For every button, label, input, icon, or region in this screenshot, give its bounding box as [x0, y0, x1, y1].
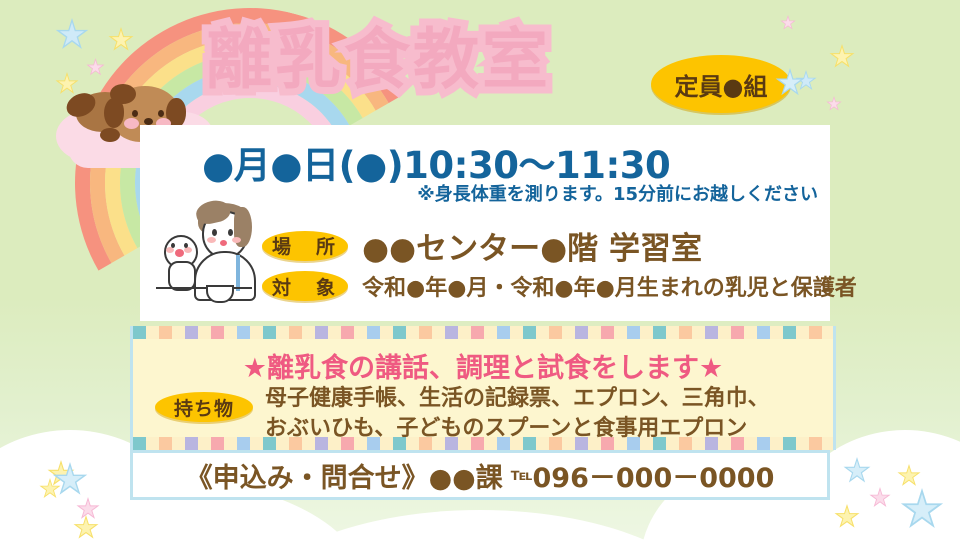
star-icon [826, 96, 842, 112]
star-icon [869, 487, 891, 509]
star-icon [900, 488, 944, 532]
bring-label: 持ち物 [155, 392, 253, 422]
star-icon [780, 15, 796, 31]
target-value: 令和●年●月・令和●年●月生まれの乳児と保護者 [362, 270, 857, 302]
star-icon [897, 464, 921, 488]
target-label: 対 象 [262, 271, 348, 301]
contact-prefix: 《申込み・問合せ》●●課 [186, 456, 503, 495]
star-icon [843, 457, 871, 485]
poster-canvas: 離乳食教室 離乳食教室 定員●組 ●月●日 [0, 0, 960, 540]
star-icon [76, 497, 100, 521]
poster-title-shadow: 離乳食教室 [206, 24, 551, 96]
star-icon [73, 515, 99, 540]
target-row: 対 象 令和●年●月・令和●年●月生まれの乳児と保護者 [262, 270, 857, 302]
feeding-illustration [150, 197, 270, 307]
place-row: 場 所 ●●センター●階 学習室 [262, 223, 702, 268]
program-headline: ★離乳食の講話、調理と試食をします★ [133, 346, 833, 385]
schedule-info-box: ●月●日(●)10:30〜11:30 ※身長体重を測ります。15分前にお越しくだ… [140, 125, 830, 321]
star-icon [108, 27, 134, 53]
star-icon [52, 462, 88, 498]
contact-phone: 096－000－0000 [533, 456, 775, 495]
star-icon [39, 478, 61, 500]
star-icon [795, 70, 817, 92]
bring-items-line-2: おぶいひも、子どものスプーンと食事用エプロン [265, 414, 770, 444]
place-value: ●●センター●階 学習室 [362, 223, 702, 268]
contact-box: 《申込み・問合せ》●●課 ℡ 096－000－0000 [130, 450, 830, 500]
star-icon [47, 460, 75, 488]
place-label: 場 所 [262, 231, 348, 261]
star-icon [55, 18, 89, 52]
checker-border-top [133, 326, 833, 339]
capacity-badge: 定員●組 [651, 55, 791, 113]
date-note: ※身長体重を測ります。15分前にお越しください [417, 180, 818, 206]
bring-items-line-1: 母子健康手帳、生活の記録票、エプロン、三角巾、 [265, 384, 770, 414]
telephone-icon: ℡ [511, 465, 533, 485]
program-box: ★離乳食の講話、調理と試食をします★ 持ち物 母子健康手帳、生活の記録票、エプロ… [130, 326, 836, 450]
star-icon [829, 44, 855, 70]
bring-row: 持ち物 母子健康手帳、生活の記録票、エプロン、三角巾、 おぶいひも、子どものスプ… [155, 384, 770, 444]
star-icon [834, 504, 860, 530]
